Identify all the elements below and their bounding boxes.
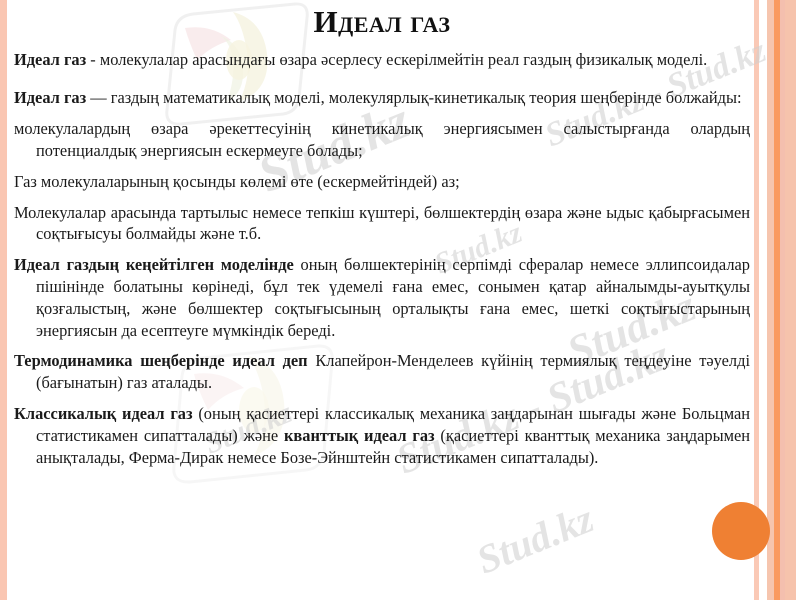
orange-circle-accent <box>712 502 770 560</box>
paragraph-body: — газдың математикалық моделі, молекуляр… <box>86 88 741 107</box>
paragraph-forces: Молекулалар арасында тартылыс немесе теп… <box>14 202 750 246</box>
paragraph-kinetic-energy: молекулалардың өзара әрекеттесуінің кине… <box>14 118 750 162</box>
paragraph-model: Идеал газ — газдың математикалық моделі,… <box>14 87 750 109</box>
slide-canvas: Stud.kz Stud.kz - Stud.kz Stud.kz - Stud… <box>0 0 796 600</box>
slide-content: Идеал газ Идеал газ - молекулалар арасын… <box>0 6 796 469</box>
paragraph-lead-term: Идеал газ <box>14 50 86 69</box>
page-title: Идеал газ <box>14 6 750 39</box>
paragraph-classical-quantum: Классикалық идеал газ (оның қасиеттері к… <box>14 403 750 468</box>
paragraph-body: - молекулалар арасындағы өзара әсерлесу … <box>86 50 707 69</box>
watermark-text: Stud.kz <box>470 495 600 584</box>
paragraph-lead-term: Идеал газдың кеңейтілген моделінде <box>14 255 294 274</box>
paragraph-lead-term: Классикалық идеал газ <box>14 404 193 423</box>
paragraph-definition: Идеал газ - молекулалар арасындағы өзара… <box>14 49 750 71</box>
paragraph-lead-term: Термодинамика шеңберінде идеал деп <box>14 351 308 370</box>
paragraph-volume: Газ молекулаларының қосынды көлемі өте (… <box>14 171 750 193</box>
paragraph-inline-term: кванттық идеал газ <box>284 426 435 445</box>
paragraph-lead-term: Идеал газ <box>14 88 86 107</box>
paragraph-thermodynamics: Термодинамика шеңберінде идеал деп Клапе… <box>14 350 750 394</box>
paragraph-extended-model: Идеал газдың кеңейтілген моделінде оның … <box>14 254 750 341</box>
